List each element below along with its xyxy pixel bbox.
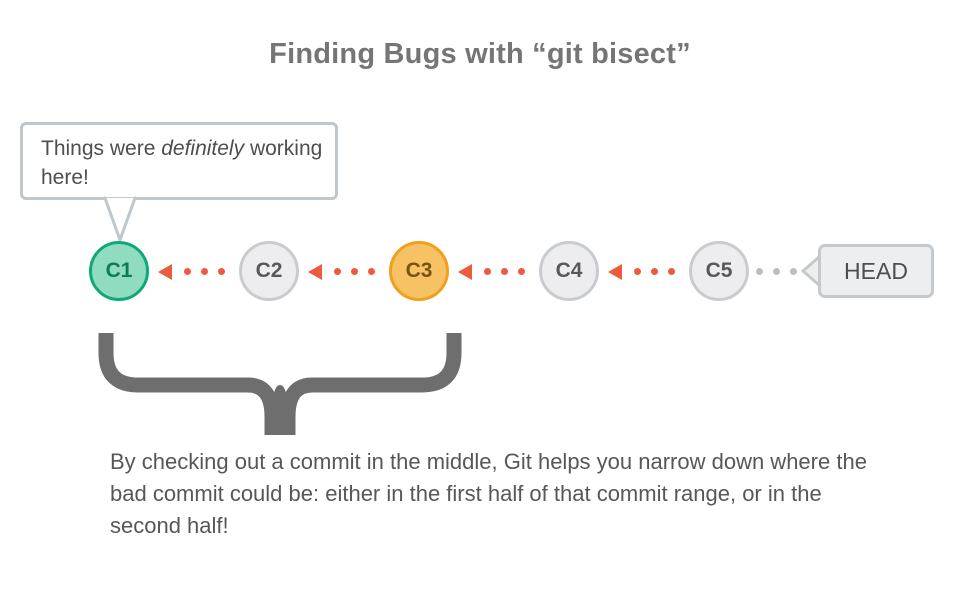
link-dot xyxy=(634,268,641,275)
commit-node-c3[interactable]: C3 xyxy=(389,241,449,301)
link-dot xyxy=(668,268,675,275)
commit-link-c4-c3 xyxy=(458,262,538,280)
link-dot xyxy=(218,268,225,275)
link-dot xyxy=(184,268,191,275)
arrow-head-icon xyxy=(458,264,472,280)
link-dot xyxy=(351,268,358,275)
speech-bubble-text: Things were definitely working here! xyxy=(41,134,329,192)
arrow-head-icon xyxy=(308,264,322,280)
speech-bubble-text-before: Things were xyxy=(41,137,161,160)
commit-node-c5[interactable]: C5 xyxy=(689,241,749,301)
link-dot xyxy=(334,268,341,275)
link-dot xyxy=(368,268,375,275)
diagram-canvas: Finding Bugs with “git bisect” Things we… xyxy=(0,0,960,600)
arrow-head-icon xyxy=(608,264,622,280)
caption-text: By checking out a commit in the middle, … xyxy=(110,446,870,542)
commit-link-c3-c2 xyxy=(308,262,388,280)
link-dot xyxy=(501,268,508,275)
page-title: Finding Bugs with “git bisect” xyxy=(0,38,960,71)
speech-bubble-tail-icon xyxy=(100,196,140,244)
commit-link-c2-c1 xyxy=(158,262,238,280)
commit-link-head-c5 xyxy=(756,262,802,280)
link-dot xyxy=(651,268,658,275)
commit-node-c4[interactable]: C4 xyxy=(539,241,599,301)
commit-node-c1[interactable]: C1 xyxy=(89,241,149,301)
link-dot xyxy=(518,268,525,275)
link-dot xyxy=(773,268,780,275)
link-dot xyxy=(790,268,797,275)
speech-bubble-emphasis: definitely xyxy=(161,137,244,160)
head-tag[interactable]: HEAD xyxy=(818,244,934,298)
link-dot xyxy=(484,268,491,275)
commit-link-c5-c4 xyxy=(608,262,688,280)
speech-bubble: Things were definitely working here! xyxy=(20,122,338,200)
range-brace-icon xyxy=(80,325,480,450)
commit-node-c2[interactable]: C2 xyxy=(239,241,299,301)
arrow-head-icon xyxy=(158,264,172,280)
link-dot xyxy=(201,268,208,275)
link-dot xyxy=(756,268,763,275)
